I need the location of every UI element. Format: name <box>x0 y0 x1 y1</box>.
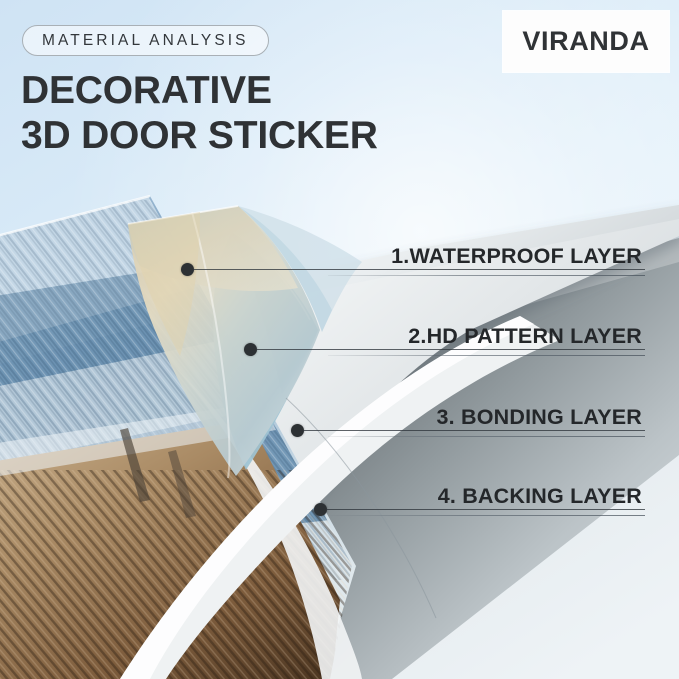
page-title: DECORATIVE 3D DOOR STICKER <box>21 68 378 158</box>
callout-leader-line-1 <box>193 269 645 270</box>
callout-waterproof-layer: 1.WATERPROOF LAYER <box>0 236 679 276</box>
callout-underline-1 <box>328 275 645 276</box>
callout-backing-layer: 4. BACKING LAYER <box>0 476 679 516</box>
callout-label-3: 3. BONDING LAYER <box>437 405 643 430</box>
callout-bonding-layer: 3. BONDING LAYER <box>0 397 679 437</box>
callout-underline-4 <box>328 515 645 516</box>
callout-underline-2 <box>328 355 645 356</box>
layer-4-backing-paper <box>150 238 679 679</box>
section-badge-label: MATERIAL ANALYSIS <box>42 32 249 50</box>
brand-logo-text: VIRANDA <box>522 26 649 57</box>
callout-leader-line-3 <box>303 430 645 431</box>
section-badge: MATERIAL ANALYSIS <box>22 25 269 56</box>
callout-hd-pattern-layer: 2.HD PATTERN LAYER <box>0 316 679 356</box>
product-infographic-poster: MATERIAL ANALYSIS DECORATIVE 3D DOOR STI… <box>0 0 679 679</box>
callout-label-2: 2.HD PATTERN LAYER <box>408 324 642 349</box>
page-title-line-1: DECORATIVE <box>21 69 272 112</box>
page-title-line-2: 3D DOOR STICKER <box>21 113 378 158</box>
callout-leader-line-4 <box>326 509 645 510</box>
layer-3-bonding <box>86 205 679 679</box>
callout-label-1: 1.WATERPROOF LAYER <box>391 244 642 269</box>
brand-logo: VIRANDA <box>503 11 669 72</box>
callout-label-4: 4. BACKING LAYER <box>438 484 642 509</box>
callout-leader-line-2 <box>256 349 645 350</box>
callout-underline-3 <box>328 436 645 437</box>
